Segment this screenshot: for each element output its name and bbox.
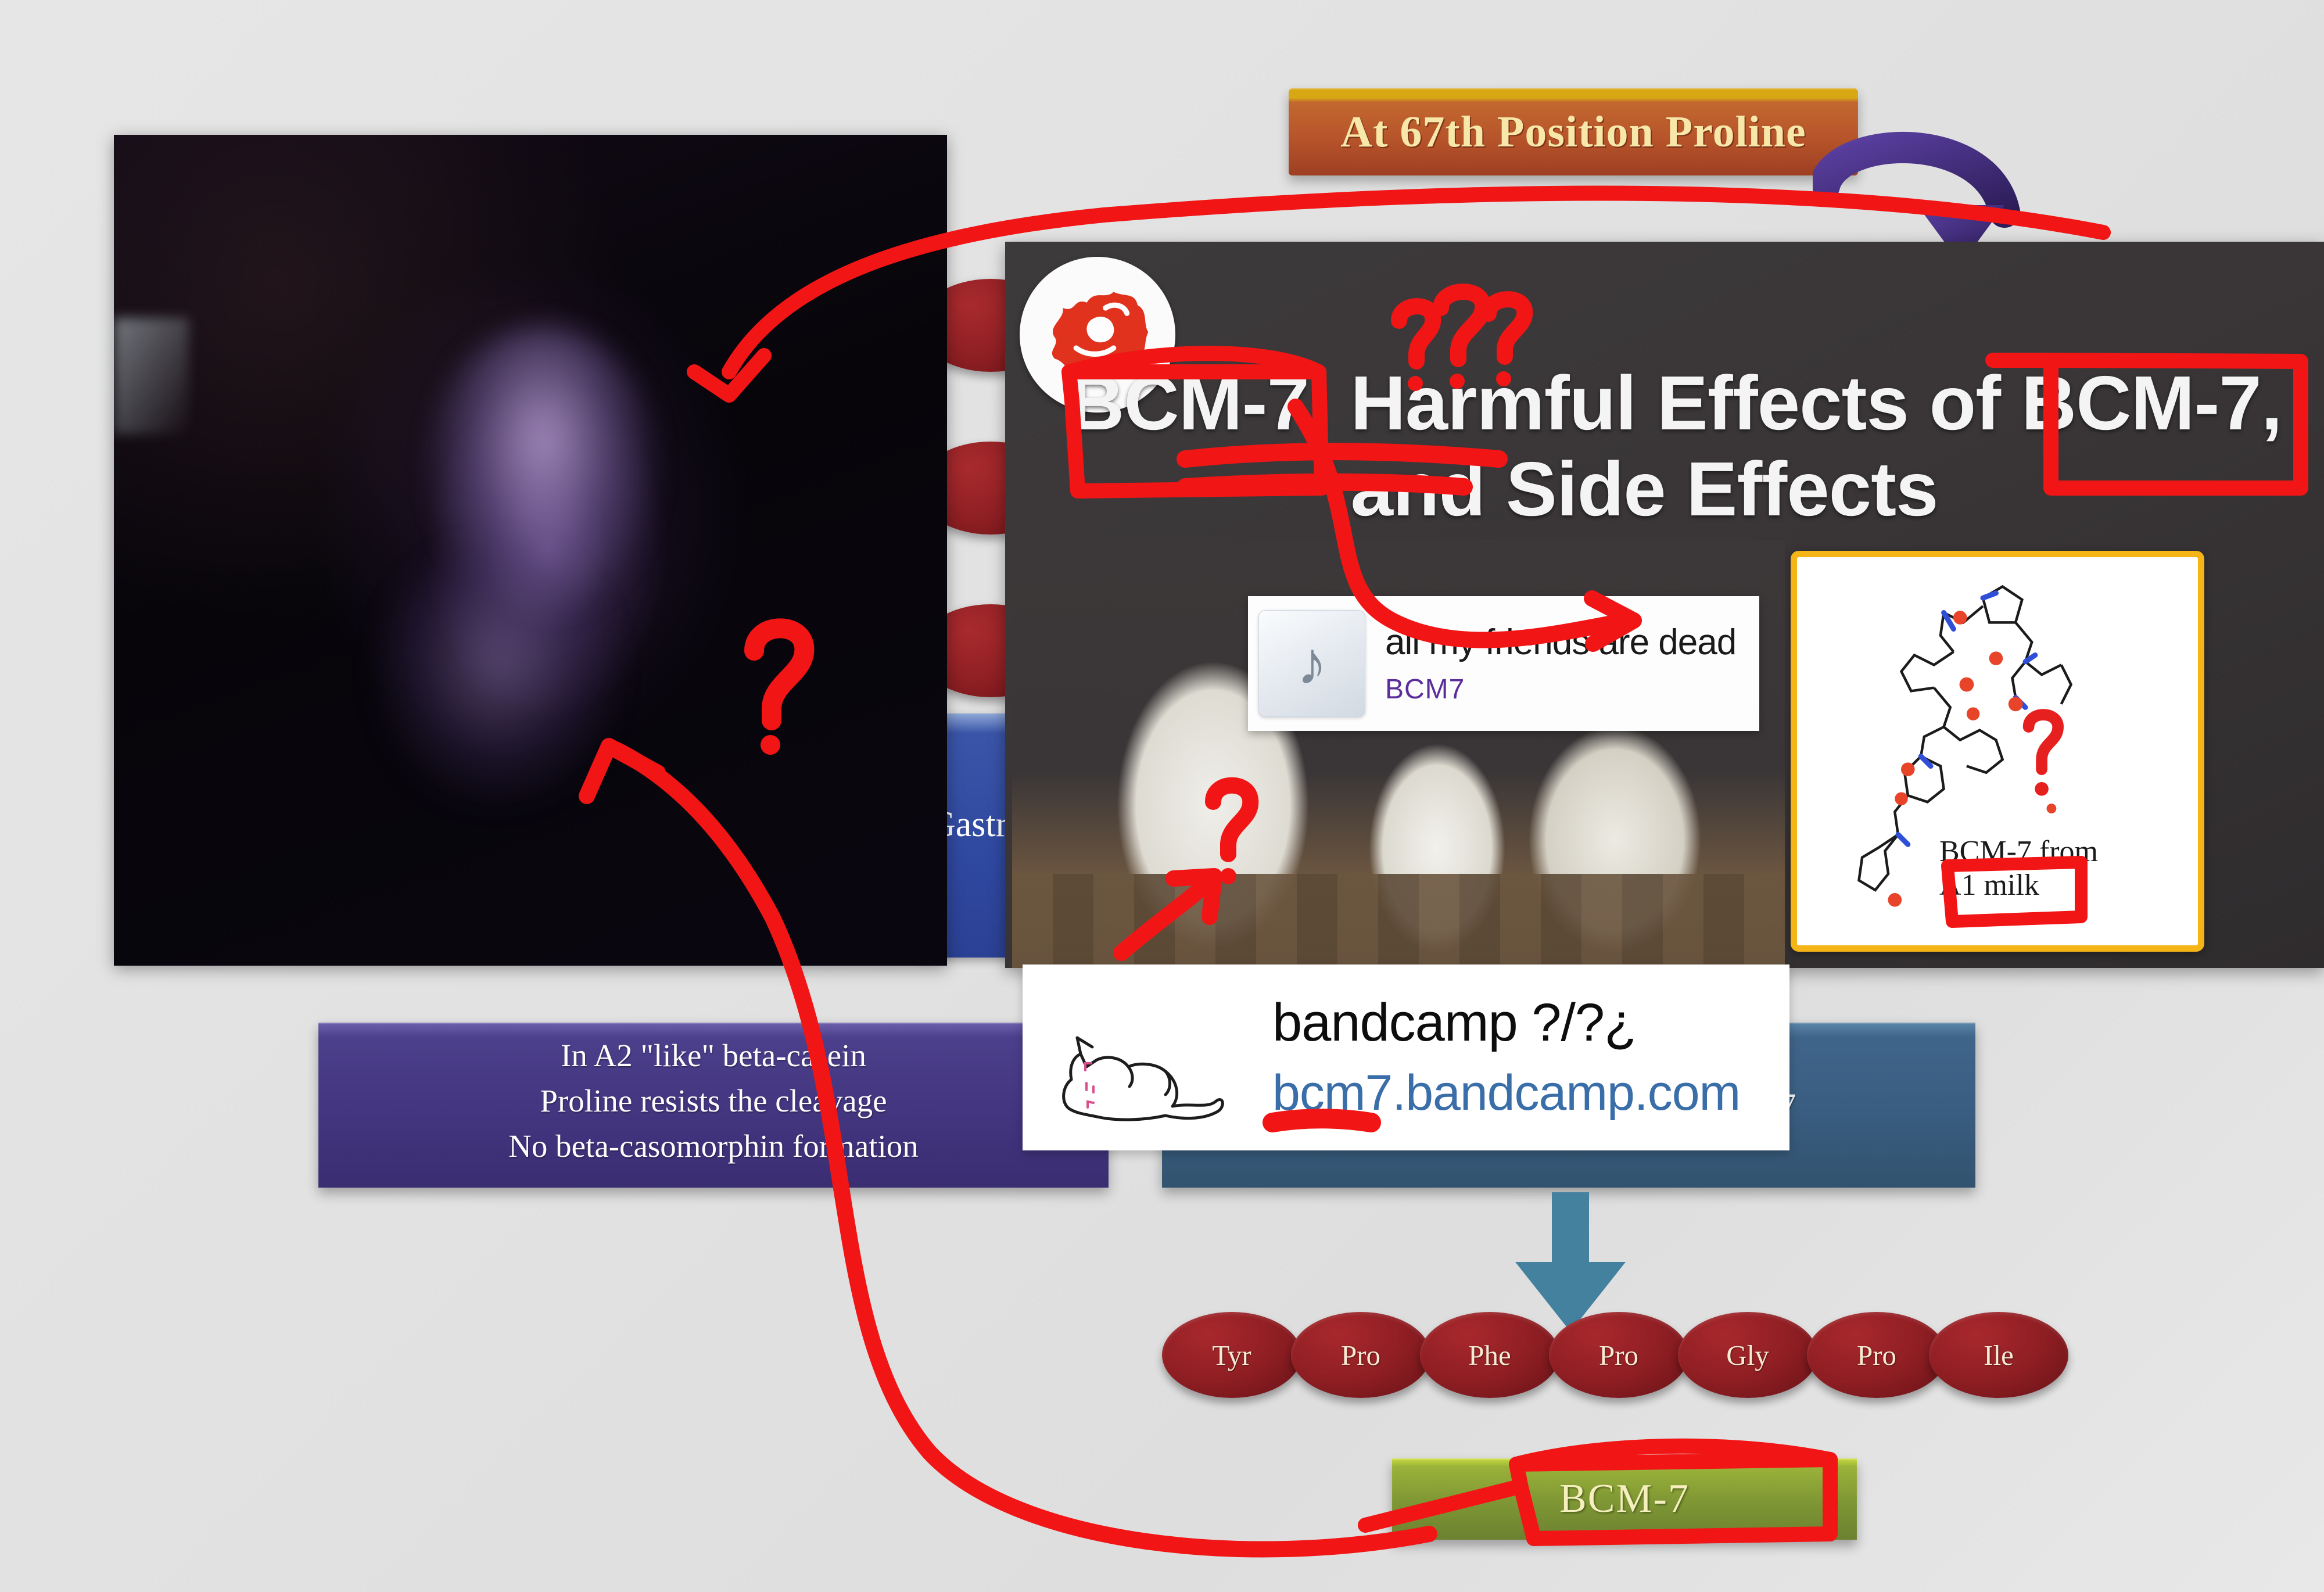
chem-caption-line1: BCM-7 from	[1939, 835, 2172, 869]
aa-residue: Gly	[1678, 1312, 1817, 1398]
photo-corner-sheen	[114, 318, 189, 434]
photo-face-lower-highlight	[381, 550, 614, 799]
purple-box-line-3: No beta-casomorphin formation	[318, 1124, 1109, 1169]
track-title: all my friends are dead	[1385, 622, 1736, 663]
aa-label: Tyr	[1212, 1339, 1251, 1372]
dark-portrait-photo	[114, 135, 947, 966]
track-artist: BCM7	[1385, 673, 1736, 705]
bcm7-result-label: BCM-7	[1559, 1476, 1690, 1522]
chem-caption: BCM-7 from A1 milk	[1939, 835, 2172, 902]
slide-canvas: Gastro At 67th Position Proline BCM-7,	[0, 0, 2324, 1592]
a2-beta-casein-info-box: In A2 "like" beta-casein Proline resists…	[318, 1023, 1109, 1188]
bandcamp-title: bandcamp ?/?¿	[1272, 992, 1636, 1053]
slide-title-line1: BCM-7, Harmful Effects of BCM-7,	[1069, 360, 2282, 446]
proline-banner-label: At 67th Position Proline	[1340, 107, 1806, 157]
purple-box-line-2: Proline resists the cleavage	[318, 1078, 1109, 1124]
aa-residue: Tyr	[1162, 1312, 1301, 1398]
purple-box-line-1: In A2 "like" beta-casein	[318, 1033, 1109, 1078]
wooden-plank	[1012, 874, 1785, 968]
slide-title: BCM-7, Harmful Effects of BCM-7, and Sid…	[1069, 360, 2324, 532]
amino-acid-chain: Tyr Pro Phe Pro Gly Pro Ile	[1162, 1312, 2068, 1399]
chemical-structure-card: BCM-7 from A1 milk	[1791, 551, 2204, 952]
aa-residue: Ile	[1929, 1312, 2068, 1398]
aa-label: Gly	[1726, 1339, 1769, 1372]
aa-residue: Pro	[1291, 1312, 1430, 1398]
music-player-card[interactable]: ♪ all my friends are dead BCM7	[1248, 596, 1759, 731]
chem-caption-line2: A1 milk	[1939, 869, 2172, 902]
player-metadata: all my friends are dead BCM7	[1385, 622, 1736, 705]
aa-label: Ile	[1984, 1339, 2014, 1372]
aa-residue: Phe	[1420, 1312, 1559, 1398]
slide-title-line2: and Side Effects	[1069, 446, 2324, 532]
aa-residue: Pro	[1807, 1312, 1946, 1398]
aa-label: Pro	[1599, 1339, 1638, 1372]
aa-residue: Pro	[1549, 1312, 1688, 1398]
music-note-icon: ♪	[1258, 610, 1365, 717]
bcm7-result-box: BCM-7	[1392, 1458, 1857, 1540]
bandcamp-overlay-card[interactable]: bandcamp ?/?¿ bcm7.bandcamp.com	[1023, 964, 1789, 1150]
aa-label: Pro	[1341, 1339, 1380, 1372]
sleeping-cat-doodle-icon	[1052, 1021, 1243, 1132]
aa-label: Phe	[1468, 1339, 1511, 1372]
proline-banner: At 67th Position Proline	[1289, 88, 1858, 175]
bandcamp-url-link[interactable]: bcm7.bandcamp.com	[1272, 1064, 1740, 1122]
aa-label: Pro	[1857, 1339, 1896, 1372]
